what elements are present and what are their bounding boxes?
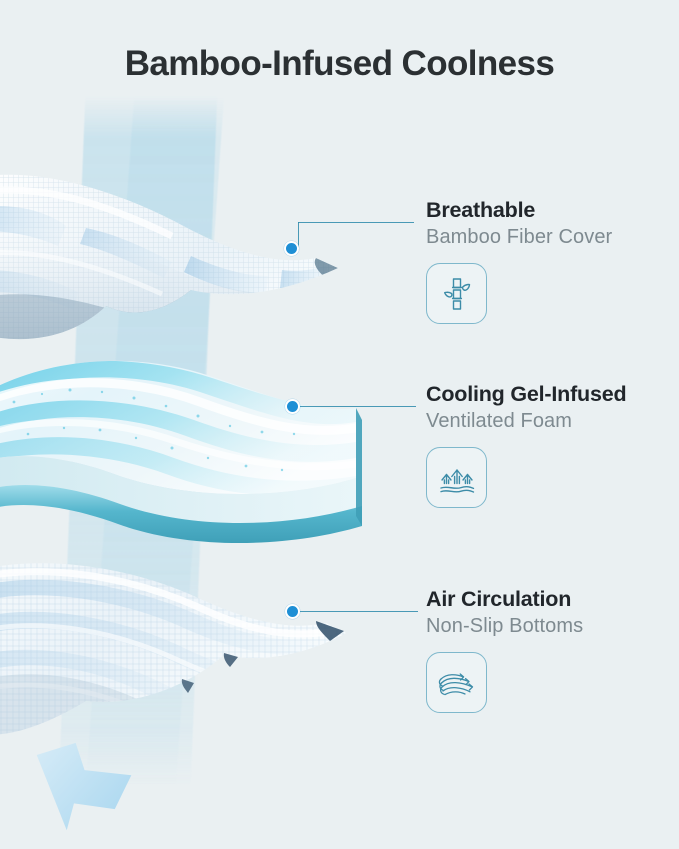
feature-subtitle: Bamboo Fiber Cover — [426, 224, 676, 250]
non-slip-bottom-layer — [0, 535, 366, 770]
bamboo-fiber-cover-layer — [0, 160, 366, 360]
product-feature-infographic: Bamboo-Infused Coolness — [0, 0, 679, 849]
leader-line-horizontal-2 — [296, 406, 416, 407]
callout-dot-air-circulation[interactable] — [285, 604, 300, 619]
feature-subtitle: Non-Slip Bottoms — [426, 613, 676, 639]
feature-cooling-gel: Cooling Gel-Infused Ventilated Foam — [426, 382, 676, 508]
feature-title: Cooling Gel-Infused — [426, 382, 676, 406]
leader-line-horizontal-1 — [298, 222, 414, 223]
feature-title: Air Circulation — [426, 587, 676, 611]
callout-dot-cooling-gel[interactable] — [285, 399, 300, 414]
air-streams-icon — [426, 652, 487, 713]
page-title: Bamboo-Infused Coolness — [0, 44, 679, 84]
bamboo-stalk-icon — [426, 263, 487, 324]
feature-title: Breathable — [426, 198, 676, 222]
feature-breathable: Breathable Bamboo Fiber Cover — [426, 198, 676, 324]
gel-infused-foam-layer — [0, 350, 376, 565]
callout-dot-breathable[interactable] — [284, 241, 299, 256]
feature-subtitle: Ventilated Foam — [426, 408, 676, 434]
airflow-arrows-icon — [426, 447, 487, 508]
leader-line-horizontal-3 — [296, 611, 418, 612]
downward-airflow-arrow — [36, 736, 166, 831]
feature-air-circulation: Air Circulation Non-Slip Bottoms — [426, 587, 676, 713]
